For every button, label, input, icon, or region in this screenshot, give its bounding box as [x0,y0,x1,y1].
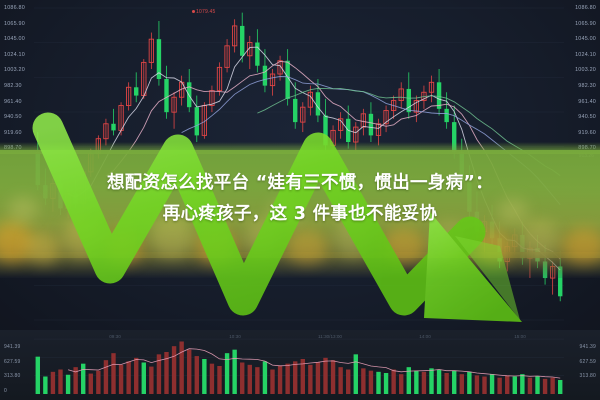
headline-text: 想配资怎么找平台 “娃有三不惯，惯出一身病”： 再心疼孩子，这 3 件事也不能妥… [0,168,600,230]
screenshot-root: 1086.801065.901045.001024.101003.20982.3… [0,0,600,400]
headline-line-2: 再心疼孩子，这 3 件事也不能妥协 [0,199,600,230]
headline-line-1: 想配资怎么找平台 “娃有三不惯，惯出一身病”： [107,173,493,193]
